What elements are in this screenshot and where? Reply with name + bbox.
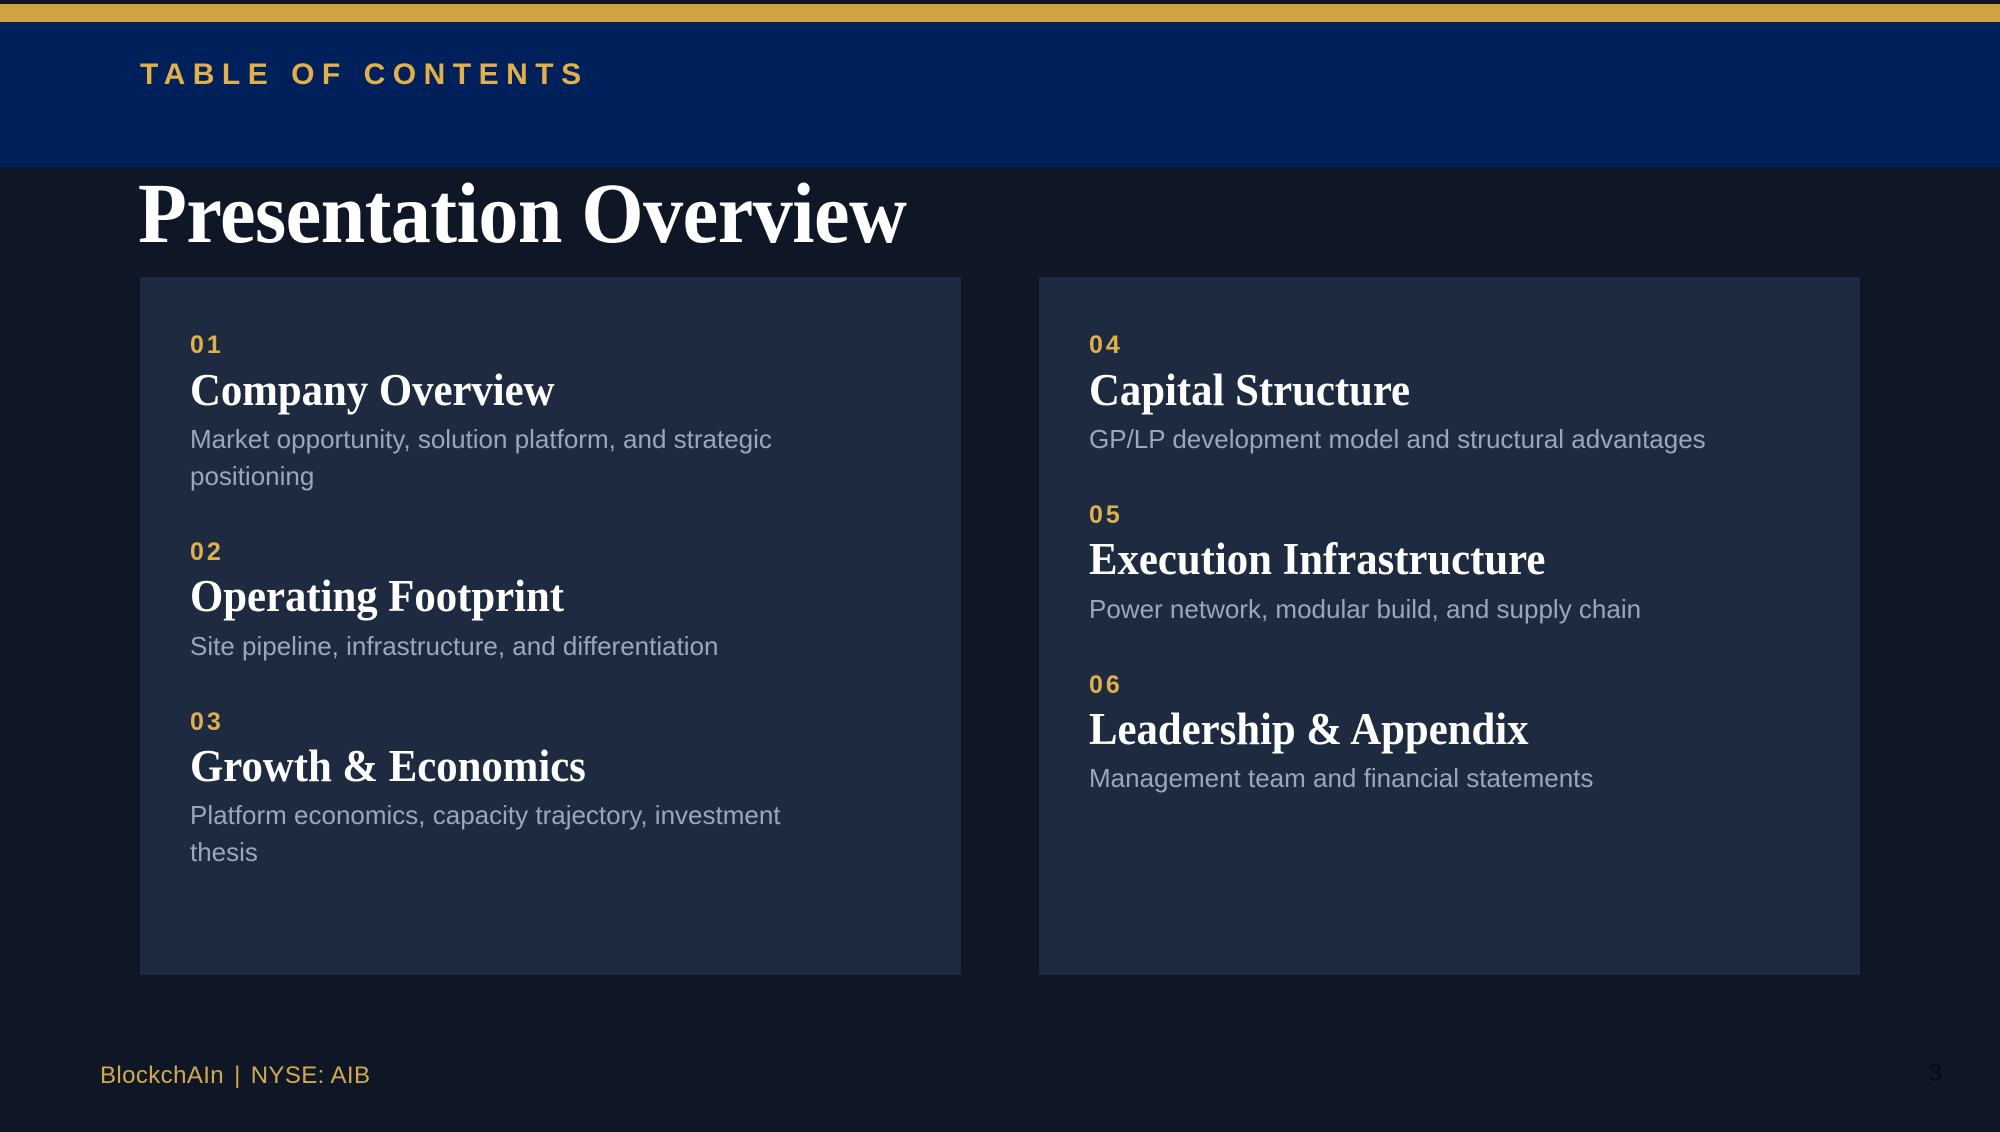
toc-item-heading: Growth & Economics xyxy=(190,741,865,791)
toc-card-left: 01 Company Overview Market opportunity, … xyxy=(140,277,961,975)
toc-item-number: 04 xyxy=(1089,332,1800,360)
slide-root: TABLE OF CONTENTS Presentation Overview … xyxy=(0,0,2000,1132)
toc-card-right: 04 Capital Structure GP/LP development m… xyxy=(1039,277,1860,975)
toc-item[interactable]: 05 Execution Infrastructure Power networ… xyxy=(1089,502,1800,628)
toc-item-description: GP/LP development model and structural a… xyxy=(1089,421,1749,458)
footer-company-name: BlockchAIn xyxy=(100,1062,224,1089)
toc-item-number: 03 xyxy=(190,709,901,737)
toc-item[interactable]: 06 Leadership & Appendix Management team… xyxy=(1089,672,1800,798)
header-band xyxy=(0,22,2000,167)
toc-item-number: 05 xyxy=(1089,502,1800,530)
toc-item-description: Platform economics, capacity trajectory,… xyxy=(190,797,850,871)
toc-item-description: Power network, modular build, and supply… xyxy=(1089,591,1749,628)
toc-item[interactable]: 03 Growth & Economics Platform economics… xyxy=(190,709,901,872)
toc-columns: 01 Company Overview Market opportunity, … xyxy=(140,277,1860,975)
toc-item-heading: Execution Infrastructure xyxy=(1089,534,1764,584)
toc-item-heading: Operating Footprint xyxy=(190,571,865,621)
section-eyebrow-label: TABLE OF CONTENTS xyxy=(140,60,589,90)
page-number: 3 xyxy=(1929,1060,1942,1088)
footer-ticker: NYSE: AIB xyxy=(251,1062,371,1089)
toc-item[interactable]: 04 Capital Structure GP/LP development m… xyxy=(1089,332,1800,458)
toc-item-number: 01 xyxy=(190,332,901,360)
top-accent-bar xyxy=(0,4,2000,22)
toc-item-heading: Capital Structure xyxy=(1089,365,1764,415)
toc-item[interactable]: 02 Operating Footprint Site pipeline, in… xyxy=(190,539,901,665)
toc-item[interactable]: 01 Company Overview Market opportunity, … xyxy=(190,332,901,495)
page-title: Presentation Overview xyxy=(138,168,906,258)
toc-item-description: Market opportunity, solution platform, a… xyxy=(190,421,850,495)
toc-item-number: 02 xyxy=(190,539,901,567)
toc-item-number: 06 xyxy=(1089,672,1800,700)
toc-item-heading: Company Overview xyxy=(190,365,865,415)
toc-item-heading: Leadership & Appendix xyxy=(1089,704,1764,754)
toc-item-description: Site pipeline, infrastructure, and diffe… xyxy=(190,628,850,665)
toc-item-description: Management team and financial statements xyxy=(1089,760,1749,797)
footer-branding: BlockchAIn|NYSE: AIB xyxy=(100,1062,370,1090)
footer-separator: | xyxy=(224,1062,251,1089)
